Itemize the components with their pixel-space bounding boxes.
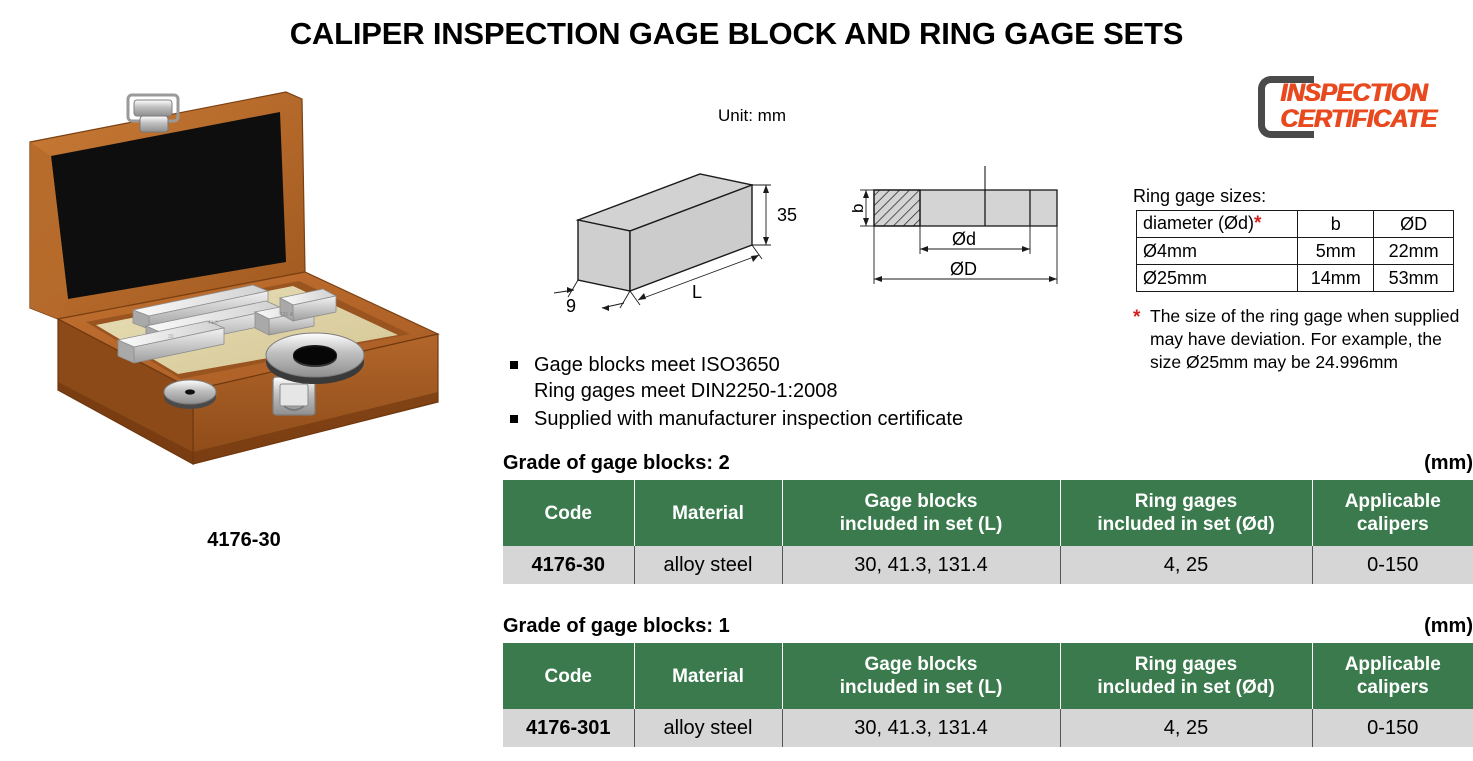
product-table: Code Material Gage blocks included in se… — [503, 643, 1473, 747]
cell-applicable-calipers: 0-150 — [1312, 709, 1473, 747]
col-header-material: Material — [634, 480, 782, 546]
product-table: Code Material Gage blocks included in se… — [503, 480, 1473, 584]
rg-header-outer-dia: ØD — [1374, 211, 1454, 238]
gage-block-diagram: 35 L 9 — [552, 128, 814, 314]
ring-gage-sizes-header-row: diameter (Ød)* b ØD — [1137, 211, 1454, 238]
list-item: Supplied with manufacturer inspection ce… — [508, 406, 1068, 432]
ring-gage-large — [266, 333, 364, 384]
dim-width-label: 9 — [566, 296, 576, 314]
unit-label: Unit: mm — [718, 106, 786, 126]
col-header-code: Code — [503, 643, 634, 709]
cell-code: 4176-30 — [503, 546, 634, 584]
rg-header-b: b — [1298, 211, 1374, 238]
col-header-ring-gages: Ring gages included in set (Ød) — [1060, 480, 1312, 546]
col-header-applicable-calipers: Applicable calipers — [1312, 480, 1473, 546]
rg-cell-diameter: Ø4mm — [1137, 238, 1298, 265]
rg-cell-outer-dia: 22mm — [1374, 238, 1454, 265]
svg-text:131.4: 131.4 — [280, 312, 293, 318]
section-header: Grade of gage blocks: 1 (mm) — [503, 615, 1473, 643]
rg-cell-diameter: Ø25mm — [1137, 265, 1298, 292]
dim-b-label: b — [852, 204, 867, 213]
ring-gage-deviation-note: * The size of the ring gage when supplie… — [1133, 305, 1463, 374]
ring-gage-diagram: b Ød ØD — [852, 148, 1102, 290]
certificate-logo-line2: CERTIFICATE — [1280, 106, 1436, 132]
product-photo: 30 41.3 131.4 — [18, 72, 470, 482]
table-row: Ø4mm 5mm 22mm — [1137, 238, 1454, 265]
ring-gage-sizes-table: diameter (Ød)* b ØD Ø4mm 5mm 22mm Ø25mm … — [1136, 210, 1454, 292]
table-header-row: Code Material Gage blocks included in se… — [503, 643, 1473, 709]
cell-gage-blocks: 30, 41.3, 131.4 — [782, 546, 1060, 584]
table-row: Ø25mm 14mm 53mm — [1137, 265, 1454, 292]
bullet-square-icon — [510, 415, 518, 423]
section-header: Grade of gage blocks: 2 (mm) — [503, 452, 1473, 480]
ring-gage-note-text: The size of the ring gage when supplied … — [1133, 305, 1463, 374]
dim-height-label: 35 — [777, 205, 797, 225]
cell-ring-gages: 4, 25 — [1060, 546, 1312, 584]
col-header-ring-gages: Ring gages included in set (Ød) — [1060, 643, 1312, 709]
col-header-gage-blocks: Gage blocks included in set (L) — [782, 480, 1060, 546]
cell-ring-gages: 4, 25 — [1060, 709, 1312, 747]
svg-text:41.3: 41.3 — [208, 320, 218, 326]
rg-cell-outer-dia: 53mm — [1374, 265, 1454, 292]
cell-code: 4176-301 — [503, 709, 634, 747]
page-title: CALIPER INSPECTION GAGE BLOCK AND RING G… — [0, 16, 1473, 52]
asterisk-icon: * — [1133, 306, 1140, 329]
feature-list: Gage blocks meet ISO3650 Ring gages meet… — [508, 352, 1068, 434]
unit-suffix-label: (mm) — [1424, 615, 1473, 638]
col-header-material: Material — [634, 643, 782, 709]
col-header-gage-blocks: Gage blocks included in set (L) — [782, 643, 1060, 709]
product-photo-caption: 4176-30 — [18, 529, 470, 552]
product-section-grade-1: Grade of gage blocks: 1 (mm) Code Materi… — [503, 615, 1473, 747]
dim-outer-dia-label: ØD — [950, 259, 977, 279]
ring-gage-small — [164, 380, 216, 409]
cell-applicable-calipers: 0-150 — [1312, 546, 1473, 584]
col-header-applicable-calipers: Applicable calipers — [1312, 643, 1473, 709]
feature-line-2: Ring gages meet DIN2250-1:2008 — [534, 378, 1068, 404]
cell-gage-blocks: 30, 41.3, 131.4 — [782, 709, 1060, 747]
certificate-logo-text: INSPECTION CERTIFICATE — [1280, 80, 1436, 132]
asterisk-icon: * — [1254, 213, 1261, 234]
col-header-code: Code — [503, 480, 634, 546]
grade-label: Grade of gage blocks: 1 — [503, 615, 730, 638]
cell-material: alloy steel — [634, 546, 782, 584]
dim-inner-dia-label: Ød — [952, 229, 976, 249]
feature-line-1: Gage blocks meet ISO3650 — [534, 352, 1068, 378]
table-row[interactable]: 4176-301 alloy steel 30, 41.3, 131.4 4, … — [503, 709, 1473, 747]
rg-cell-b: 5mm — [1298, 238, 1374, 265]
dim-length-label: L — [692, 282, 702, 302]
rg-header-diameter: diameter (Ød)* — [1137, 211, 1298, 238]
grade-label: Grade of gage blocks: 2 — [503, 452, 730, 475]
inspection-certificate-logo: INSPECTION CERTIFICATE — [1258, 76, 1468, 142]
feature-line-1: Supplied with manufacturer inspection ce… — [534, 406, 1068, 432]
product-section-grade-2: Grade of gage blocks: 2 (mm) Code Materi… — [503, 452, 1473, 584]
gage-set-case-illustration: 30 41.3 131.4 — [18, 72, 470, 482]
bullet-square-icon — [510, 361, 518, 369]
certificate-logo-line1: INSPECTION — [1280, 80, 1436, 106]
ring-gage-sizes-title: Ring gage sizes: — [1133, 186, 1266, 207]
table-row[interactable]: 4176-30 alloy steel 30, 41.3, 131.4 4, 2… — [503, 546, 1473, 584]
list-item: Gage blocks meet ISO3650 Ring gages meet… — [508, 352, 1068, 404]
rg-cell-b: 14mm — [1298, 265, 1374, 292]
svg-text:30: 30 — [168, 334, 174, 340]
unit-suffix-label: (mm) — [1424, 452, 1473, 475]
table-header-row: Code Material Gage blocks included in se… — [503, 480, 1473, 546]
cell-material: alloy steel — [634, 709, 782, 747]
